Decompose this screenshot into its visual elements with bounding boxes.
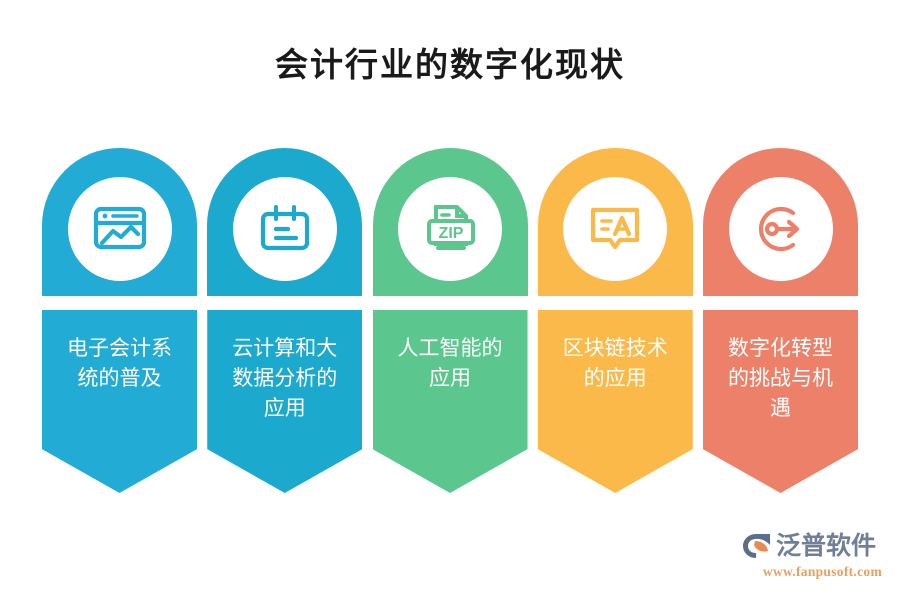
- banner[interactable]: 电子会计系 统的普及: [42, 310, 197, 493]
- icon-block: [703, 148, 858, 296]
- translate-bubble-icon: [584, 198, 646, 260]
- spacer: [373, 296, 528, 310]
- column-item[interactable]: 数字化转型 的挑战与机 遇: [703, 148, 858, 493]
- svg-text:ZIP: ZIP: [439, 225, 464, 242]
- banner[interactable]: 数字化转型 的挑战与机 遇: [703, 310, 858, 493]
- spacer: [538, 296, 693, 310]
- brand-logo: 泛普软件 www.fanpusoft.com: [742, 530, 882, 582]
- banner-label: 区块链技术 的应用: [538, 334, 693, 394]
- columns-container: 电子会计系 统的普及 云计算和大 数据分析的 应用: [42, 148, 858, 493]
- banner-label: 人工智能的 应用: [373, 334, 528, 394]
- logout-arrow-circle-icon: [750, 198, 812, 260]
- banner[interactable]: 云计算和大 数据分析的 应用: [207, 310, 362, 493]
- icon-block: [42, 148, 197, 296]
- calendar-note-icon: [254, 198, 316, 260]
- icon-block: [538, 148, 693, 296]
- fanpu-logo-mark-icon: [742, 532, 772, 560]
- logo-row: 泛普软件: [742, 530, 882, 562]
- spacer: [207, 296, 362, 310]
- icon-disc: [563, 177, 667, 281]
- banner-label: 电子会计系 统的普及: [42, 334, 197, 394]
- column-item[interactable]: 云计算和大 数据分析的 应用: [207, 148, 362, 493]
- column-item[interactable]: 电子会计系 统的普及: [42, 148, 197, 493]
- banner[interactable]: 区块链技术 的应用: [538, 310, 693, 493]
- logo-url: www.fanpusoft.com: [742, 564, 882, 580]
- icon-block: ZIP: [373, 148, 528, 296]
- column-item[interactable]: ZIP 人工智能的 应用: [373, 148, 528, 493]
- infographic-page: 会计行业的数字化现状 电子会计系 统的普及: [0, 0, 900, 600]
- logo-name: 泛普软件: [776, 534, 876, 559]
- icon-disc: [68, 177, 172, 281]
- window-chart-icon: [89, 198, 151, 260]
- spacer: [42, 296, 197, 310]
- banner-label: 云计算和大 数据分析的 应用: [207, 334, 362, 423]
- icon-disc: [729, 177, 833, 281]
- column-item[interactable]: 区块链技术 的应用: [538, 148, 693, 493]
- icon-block: [207, 148, 362, 296]
- page-title: 会计行业的数字化现状: [0, 38, 900, 86]
- icon-disc: ZIP: [398, 177, 502, 281]
- banner-label: 数字化转型 的挑战与机 遇: [703, 334, 858, 423]
- icon-disc: [233, 177, 337, 281]
- zip-file-icon: ZIP: [419, 198, 481, 260]
- banner[interactable]: 人工智能的 应用: [373, 310, 528, 493]
- spacer: [703, 296, 858, 310]
